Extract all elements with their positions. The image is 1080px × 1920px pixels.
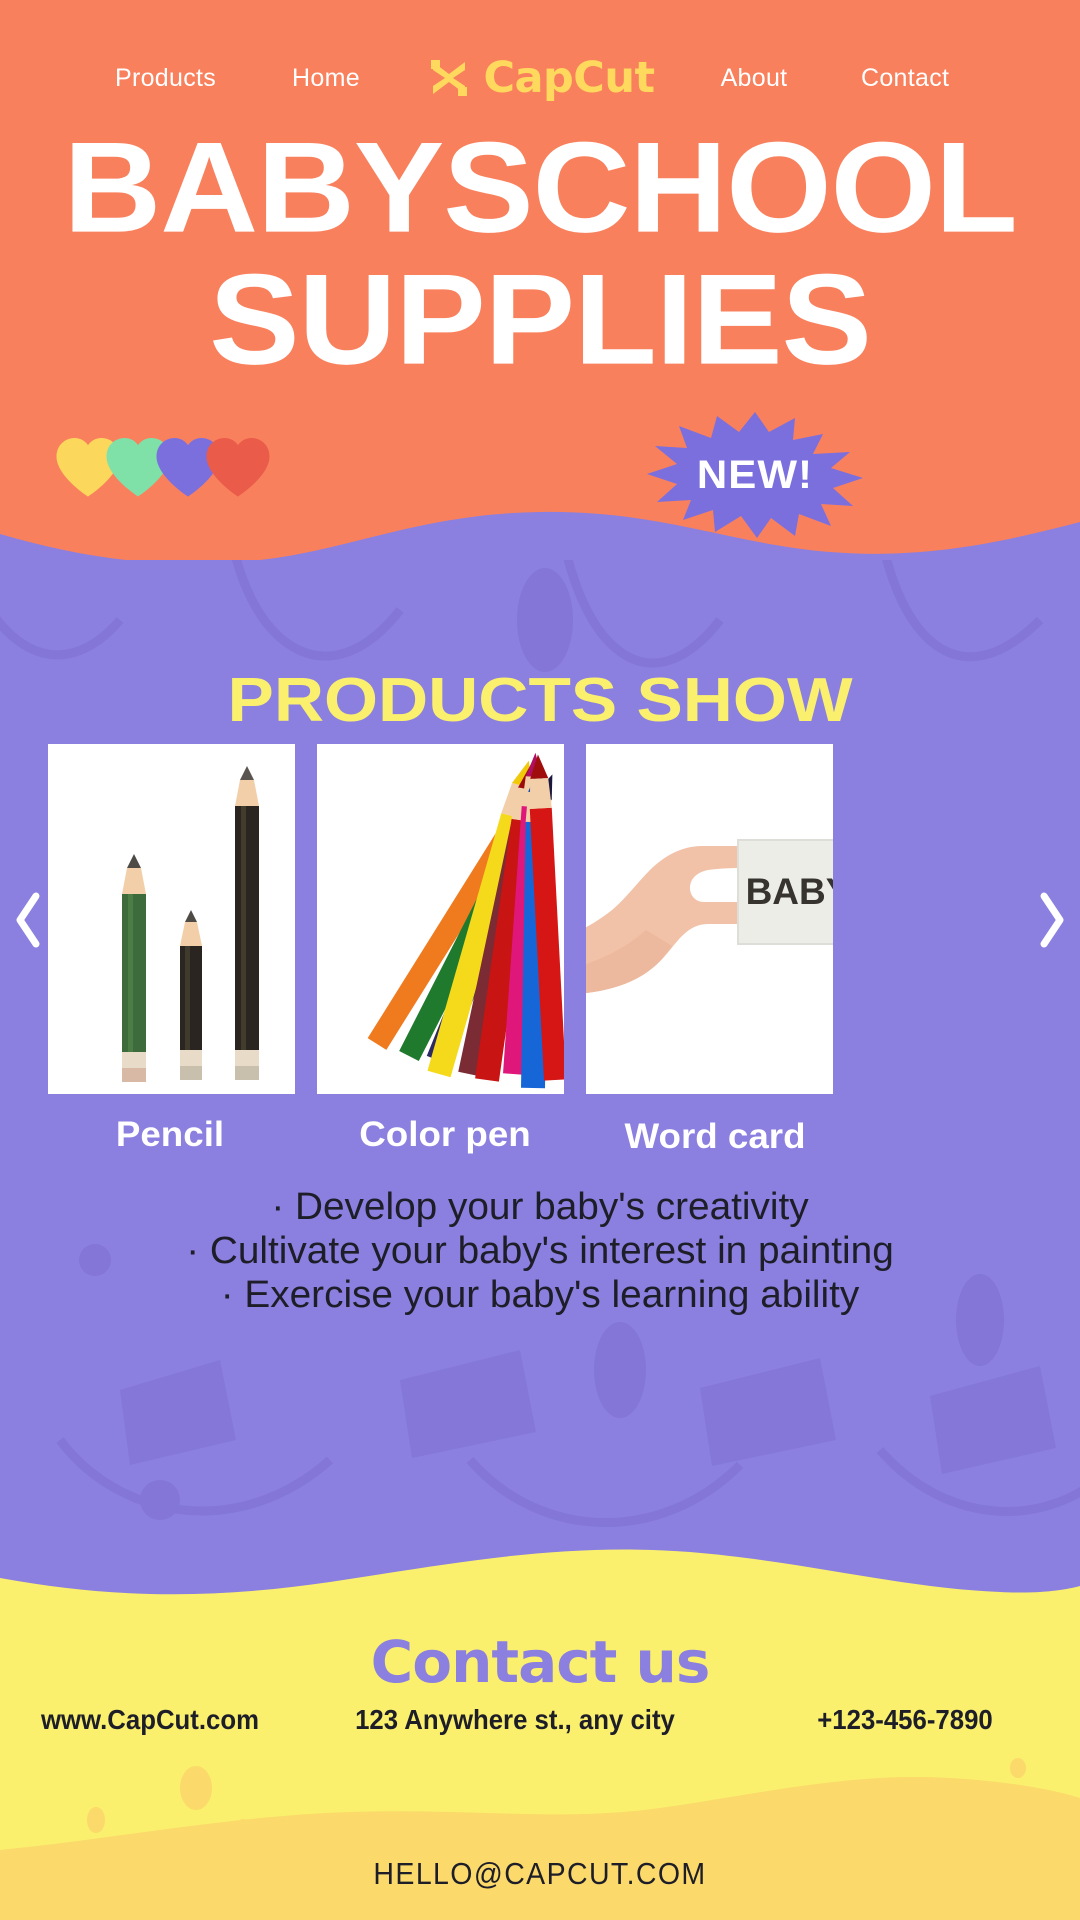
heart-red-icon <box>202 430 274 500</box>
hero-title-line-2: SUPPLIES <box>0 261 1080 379</box>
products-section-title: PRODUCTS SHOW <box>0 665 1080 736</box>
product-label-word-card: Word card <box>584 1117 847 1157</box>
contact-email[interactable]: HELLO@CAPCUT.COM <box>43 1856 1037 1892</box>
nav-item-contact[interactable]: Contact <box>861 64 949 92</box>
nav-slot-contact: Contact <box>843 64 1043 93</box>
products-section: PRODUCTS SHOW <box>0 560 1080 1570</box>
product-card-color-pen[interactable] <box>317 744 564 1094</box>
nav-item-home[interactable]: Home <box>292 64 360 92</box>
heart-decoration-group <box>52 430 252 500</box>
pencils-photo <box>48 744 295 1094</box>
nav-item-about[interactable]: About <box>721 64 788 92</box>
benefit-item-3: · Exercise your baby's learning ability <box>0 1273 1080 1317</box>
product-carousel: BABY <box>48 744 1032 1094</box>
benefits-list: · Develop your baby's creativity · Culti… <box>0 1185 1080 1317</box>
contact-details-row: www.CapCut.com 123 Anywhere st., any cit… <box>0 1700 1080 1740</box>
hero-title: BABYSCHOOL SUPPLIES <box>0 136 1080 374</box>
contact-address: 123 Anywhere st., any city <box>317 1704 713 1736</box>
hero-title-line-1: BABYSCHOOL <box>0 130 1080 248</box>
capcut-logo-icon <box>425 54 473 102</box>
header-section: Products Home CapCut About Contac <box>0 0 1080 600</box>
nav-slot-about: About <box>665 64 843 93</box>
hand-holding-word-card-photo: BABY <box>586 744 833 1094</box>
benefit-item-2: · Cultivate your baby's interest in pain… <box>0 1229 1080 1273</box>
product-label-color-pen: Color pen <box>314 1115 577 1155</box>
new-badge: NEW! <box>645 410 865 540</box>
contact-phone[interactable]: +123-456-7890 <box>744 1704 1066 1736</box>
contact-website[interactable]: www.CapCut.com <box>12 1704 288 1736</box>
capcut-logo-text: CapCut <box>483 53 654 103</box>
nav-slot-home: Home <box>237 64 415 93</box>
contact-title: Contact us <box>0 1628 1080 1696</box>
new-badge-label: NEW! <box>640 410 871 540</box>
poster-page: Products Home CapCut About Contac <box>0 0 1080 1920</box>
word-card-text: BABY <box>746 871 833 912</box>
product-card-word-card[interactable]: BABY <box>586 744 833 1094</box>
carousel-next-icon[interactable] <box>1032 890 1072 950</box>
color-pencils-photo <box>317 744 564 1094</box>
benefit-item-1: · Develop your baby's creativity <box>0 1185 1080 1229</box>
product-card-pencil[interactable] <box>48 744 295 1094</box>
capcut-logo[interactable]: CapCut <box>415 53 665 103</box>
nav-item-products[interactable]: Products <box>115 64 216 92</box>
nav-slot-products: Products <box>37 64 237 93</box>
carousel-prev-icon[interactable] <box>8 890 48 950</box>
main-navigation: Products Home CapCut About Contac <box>0 48 1080 108</box>
product-labels: Pencil Color pen Word card <box>0 1115 1080 1165</box>
product-label-pencil: Pencil <box>0 1115 349 1155</box>
